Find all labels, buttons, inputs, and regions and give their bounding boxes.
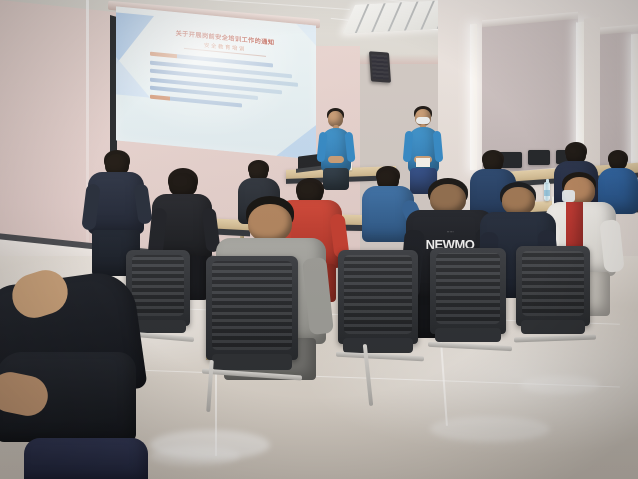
projection-screen: 关于开展岗前安全培训工作的通知 安全教育培训 — [116, 6, 316, 159]
shirt-graphic-top: · · · · · — [426, 230, 474, 234]
projector-glow — [116, 6, 316, 159]
foreground-chair-back — [24, 438, 148, 479]
presenter-papers — [416, 158, 430, 167]
face-mask-presenter — [416, 117, 430, 124]
classroom-photograph: 关于开展岗前安全培训工作的通知 安全教育培训 — [0, 0, 638, 479]
wall-speaker — [369, 51, 391, 83]
monitor-2 — [528, 150, 550, 165]
presenter-left — [316, 108, 356, 188]
face-mask-attendee — [562, 190, 575, 202]
floor-reflection — [150, 430, 270, 460]
window-light-gap-left — [470, 24, 477, 171]
